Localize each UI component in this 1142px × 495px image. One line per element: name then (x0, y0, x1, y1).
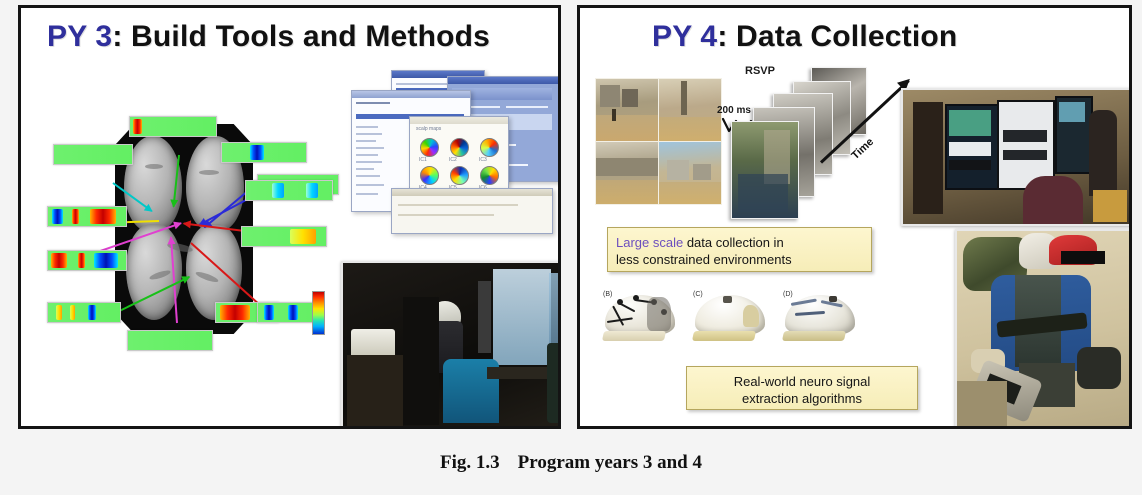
panel-py3-title-tag: PY 3 (47, 20, 112, 53)
headgear-b: (B) (601, 291, 679, 347)
activation-strip (47, 250, 127, 271)
activation-strip (47, 206, 127, 227)
scene-thumbnail (595, 78, 659, 142)
callout-real-world: Real-world neuro signal extraction algor… (686, 366, 918, 410)
panel-py3: PY 3: Build Tools and Methods (18, 5, 561, 429)
rsvp-frame-front (731, 121, 799, 219)
headgear-c: (C) (691, 291, 769, 347)
panel-py4-title-tag: PY 4 (652, 20, 717, 53)
rsvp-stimulus-group: RSVP 200 ms (595, 65, 895, 240)
callout-line2: extraction algorithms (742, 391, 862, 406)
headgear-d: (D) (781, 291, 859, 347)
activation-strip (245, 180, 333, 201)
panel-py3-title-sep: : (112, 20, 131, 53)
headgear-d-tag: (D) (783, 291, 793, 298)
figure-caption-label: Fig. 1.3 (440, 452, 500, 473)
rsvp-label: RSVP (745, 65, 775, 77)
scene-thumbnail (595, 141, 659, 205)
eeg-headgear-row: (B) (C) (D) (601, 283, 859, 353)
brain-sulcus (199, 170, 219, 175)
rsvp-interval-label: 200 ms (717, 105, 751, 116)
activation-strip (127, 330, 213, 351)
panel-py4-title-sep: : (717, 20, 736, 53)
figure-stage: PY 3: Build Tools and Methods (0, 0, 1142, 495)
panel-py4-title: PY 4: Data Collection (652, 20, 957, 54)
panel-py3-title: PY 3: Build Tools and Methods (47, 20, 490, 54)
eeg-subject-at-computer-photo (341, 261, 561, 429)
panel-py4-title-text: Data Collection (736, 20, 957, 53)
panel-py3-title-text: Build Tools and Methods (131, 20, 490, 53)
activation-strip (129, 116, 217, 137)
headgear-b-tag: (B) (603, 291, 612, 298)
scene-thumbnail (658, 141, 722, 205)
face-redaction-bar (1061, 251, 1105, 264)
brain-sulcus (145, 164, 163, 169)
figure-caption: Fig. 1.3Program years 3 and 4 (0, 452, 1142, 474)
jet-colorbar (312, 291, 325, 335)
time-axis-label: Time (849, 136, 876, 162)
multi-monitor-lab-photo (901, 88, 1132, 226)
callout-line1-rest: data collection in (683, 235, 783, 250)
callout-line2: less constrained environments (616, 252, 792, 267)
figure-caption-text: Program years 3 and 4 (518, 452, 702, 473)
field-subject-with-gear-photo (955, 229, 1132, 429)
callout-large-scale: Large scale data collection in less cons… (607, 227, 872, 272)
callout-highlight-text: Large scale (616, 235, 683, 250)
activation-strip (241, 226, 327, 247)
panel-py4: PY 4: Data Collection RSVP (577, 5, 1132, 429)
activation-strip (53, 144, 133, 165)
software-window-bottom[interactable] (391, 188, 553, 234)
activation-strip (47, 302, 121, 323)
brain-activation-figure (29, 106, 339, 356)
analysis-software-windows: scalp maps IC1 IC2 IC3 IC4 IC5 IC6 (351, 70, 561, 250)
activation-strip (221, 142, 307, 163)
callout-line1: Real-world neuro signal (734, 374, 871, 389)
scene-thumbnail (658, 78, 722, 142)
headgear-c-tag: (C) (693, 291, 703, 298)
